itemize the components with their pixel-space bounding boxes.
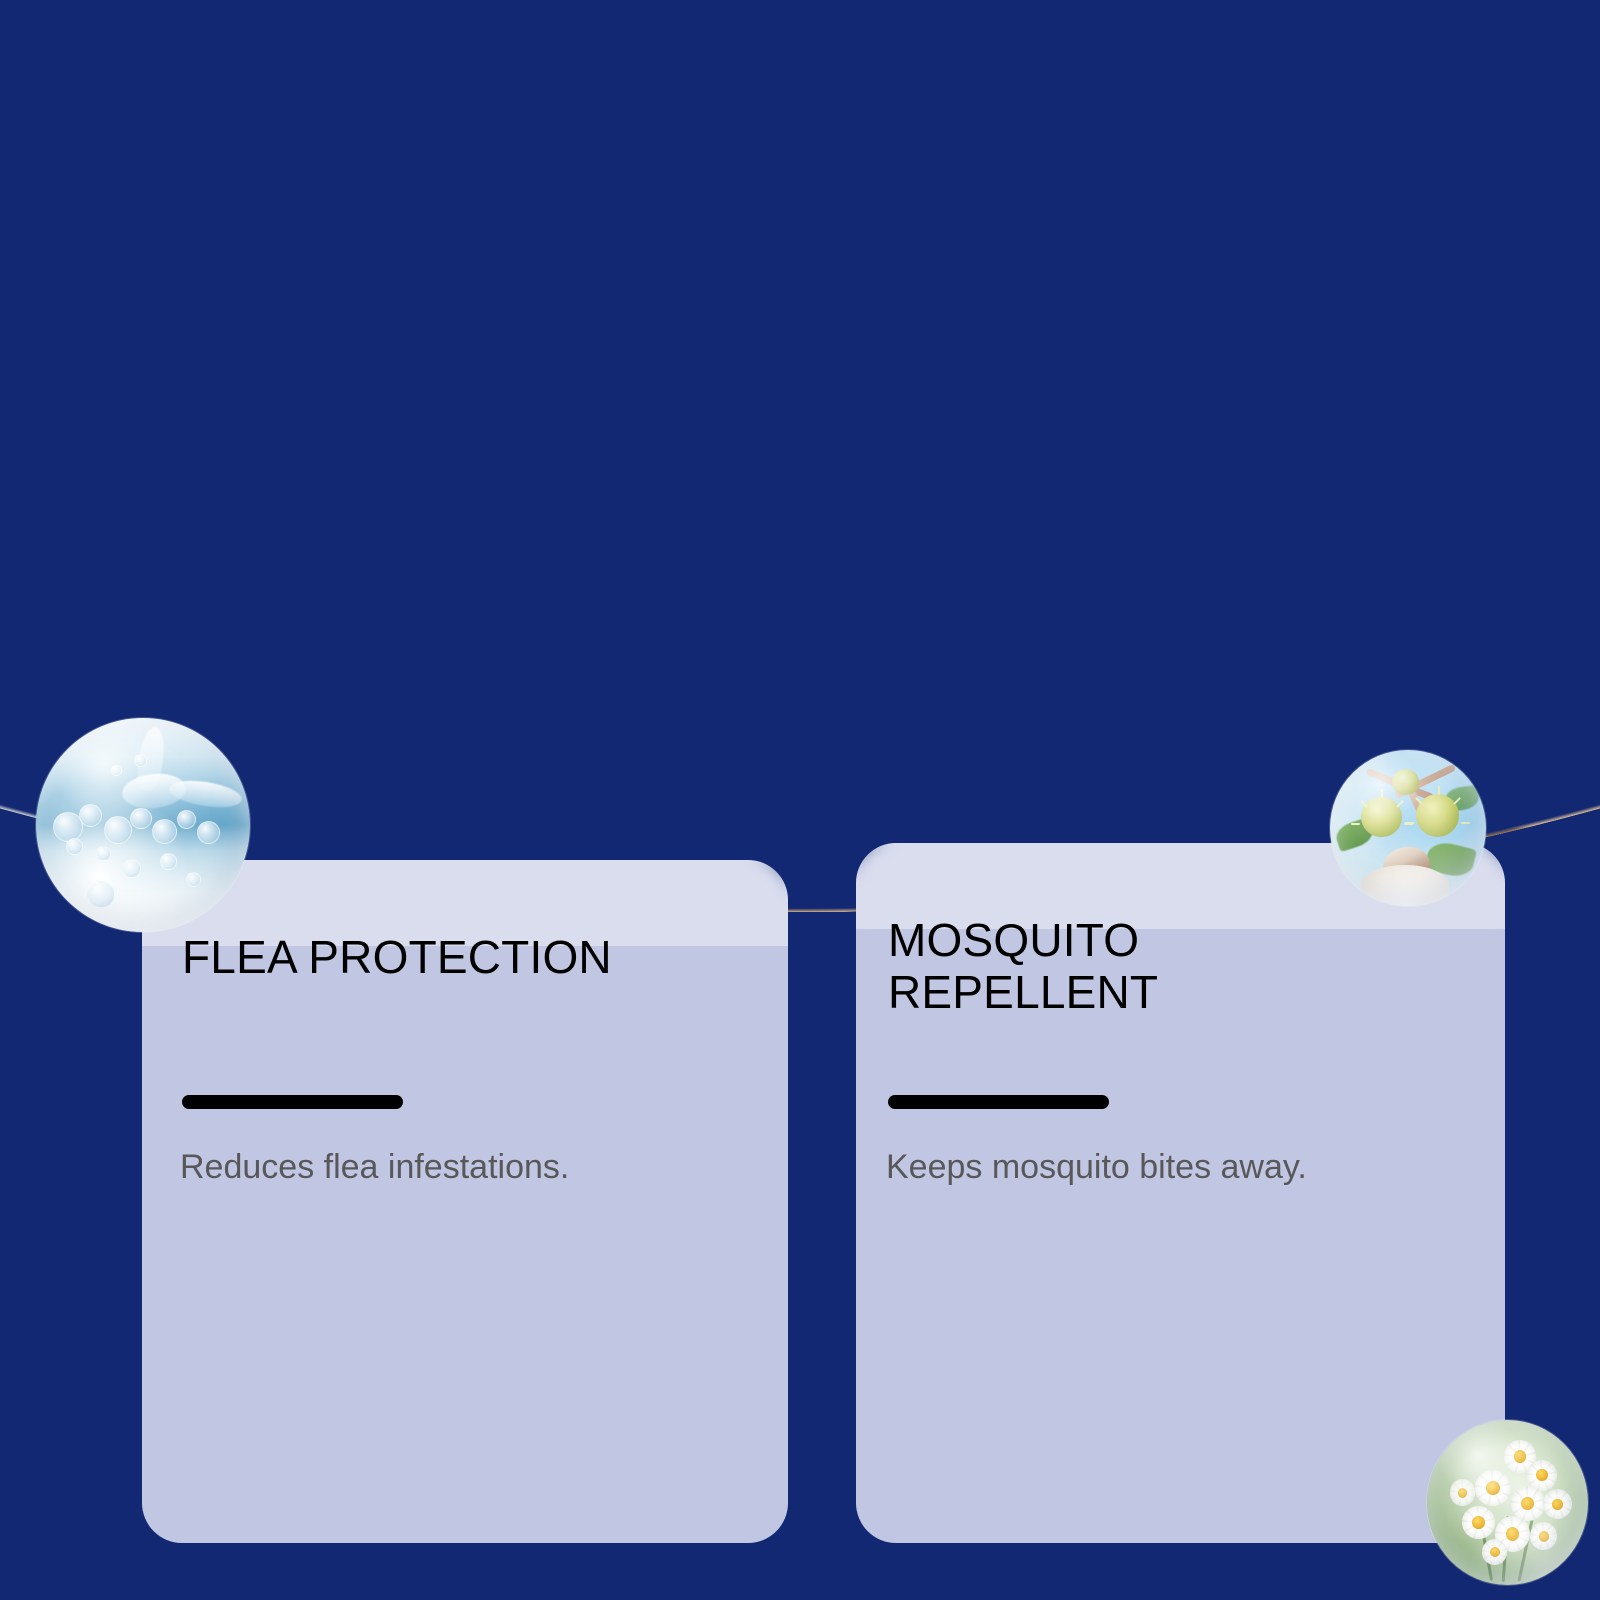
benefit-card-mosquito-repellent[interactable]: MOSQUITO REPELLENT Keeps mosquito bites … xyxy=(856,843,1505,1543)
card-divider-rule xyxy=(888,1095,1109,1109)
card-divider-rule xyxy=(182,1095,403,1109)
card-description-flea-protection: Reduces flea infestations. xyxy=(180,1143,740,1191)
infographic-canvas: FLEA PROTECTION Reduces flea infestation… xyxy=(0,0,1600,1600)
benefit-card-flea-protection[interactable]: FLEA PROTECTION Reduces flea infestation… xyxy=(142,860,788,1543)
water-droplet-icon xyxy=(36,718,250,932)
card-description-mosquito-repellent: Keeps mosquito bites away. xyxy=(886,1143,1356,1191)
chamomile-flower-icon xyxy=(1427,1420,1588,1585)
castor-seed-pod-icon xyxy=(1330,750,1486,906)
card-title-flea-protection: FLEA PROTECTION xyxy=(182,932,742,984)
card-title-mosquito-repellent: MOSQUITO REPELLENT xyxy=(888,915,1308,1018)
